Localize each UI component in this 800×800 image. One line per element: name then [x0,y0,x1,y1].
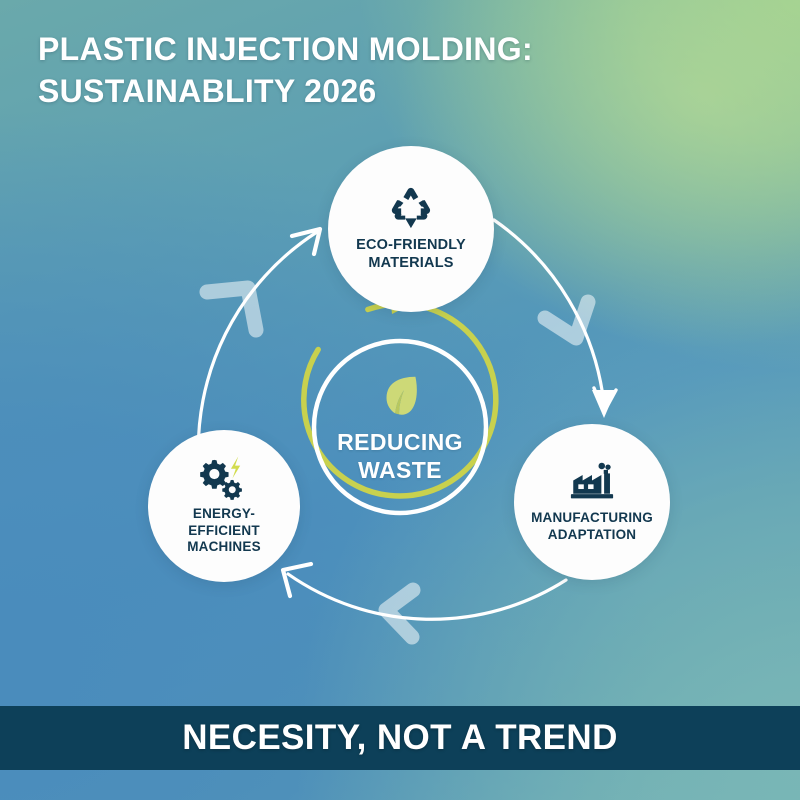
factory-icon [567,460,617,504]
gears-bolt-icon [197,456,251,500]
hub-reducing-waste: REDUCING WASTE [303,330,497,524]
connector-manufacturing-to-energy [283,564,566,637]
node-label-manufacturing-adaptation: MANUFACTURING ADAPTATION [521,510,663,544]
node-eco-friendly-materials[interactable]: ECO-FRIENDLY MATERIALS [328,146,494,312]
hub-label: REDUCING WASTE [337,428,463,484]
banner-text: NECESITY, NOT A TREND [182,718,618,758]
node-label-energy-efficient-machines: ENERGY-EFFICIENT MACHINES [148,506,300,557]
infographic-poster: PLASTIC INJECTION MOLDING: SUSTAINABLITY… [0,0,800,800]
recycle-icon [386,186,436,230]
leaf-icon [373,370,427,424]
connector-eco-to-manufacturing [494,220,616,418]
node-manufacturing-adaptation[interactable]: MANUFACTURING ADAPTATION [514,424,670,580]
bottom-banner: NECESITY, NOT A TREND [0,706,800,770]
node-label-eco-friendly-materials: ECO-FRIENDLY MATERIALS [346,236,476,272]
node-energy-efficient-machines[interactable]: ENERGY-EFFICIENT MACHINES [148,430,300,582]
